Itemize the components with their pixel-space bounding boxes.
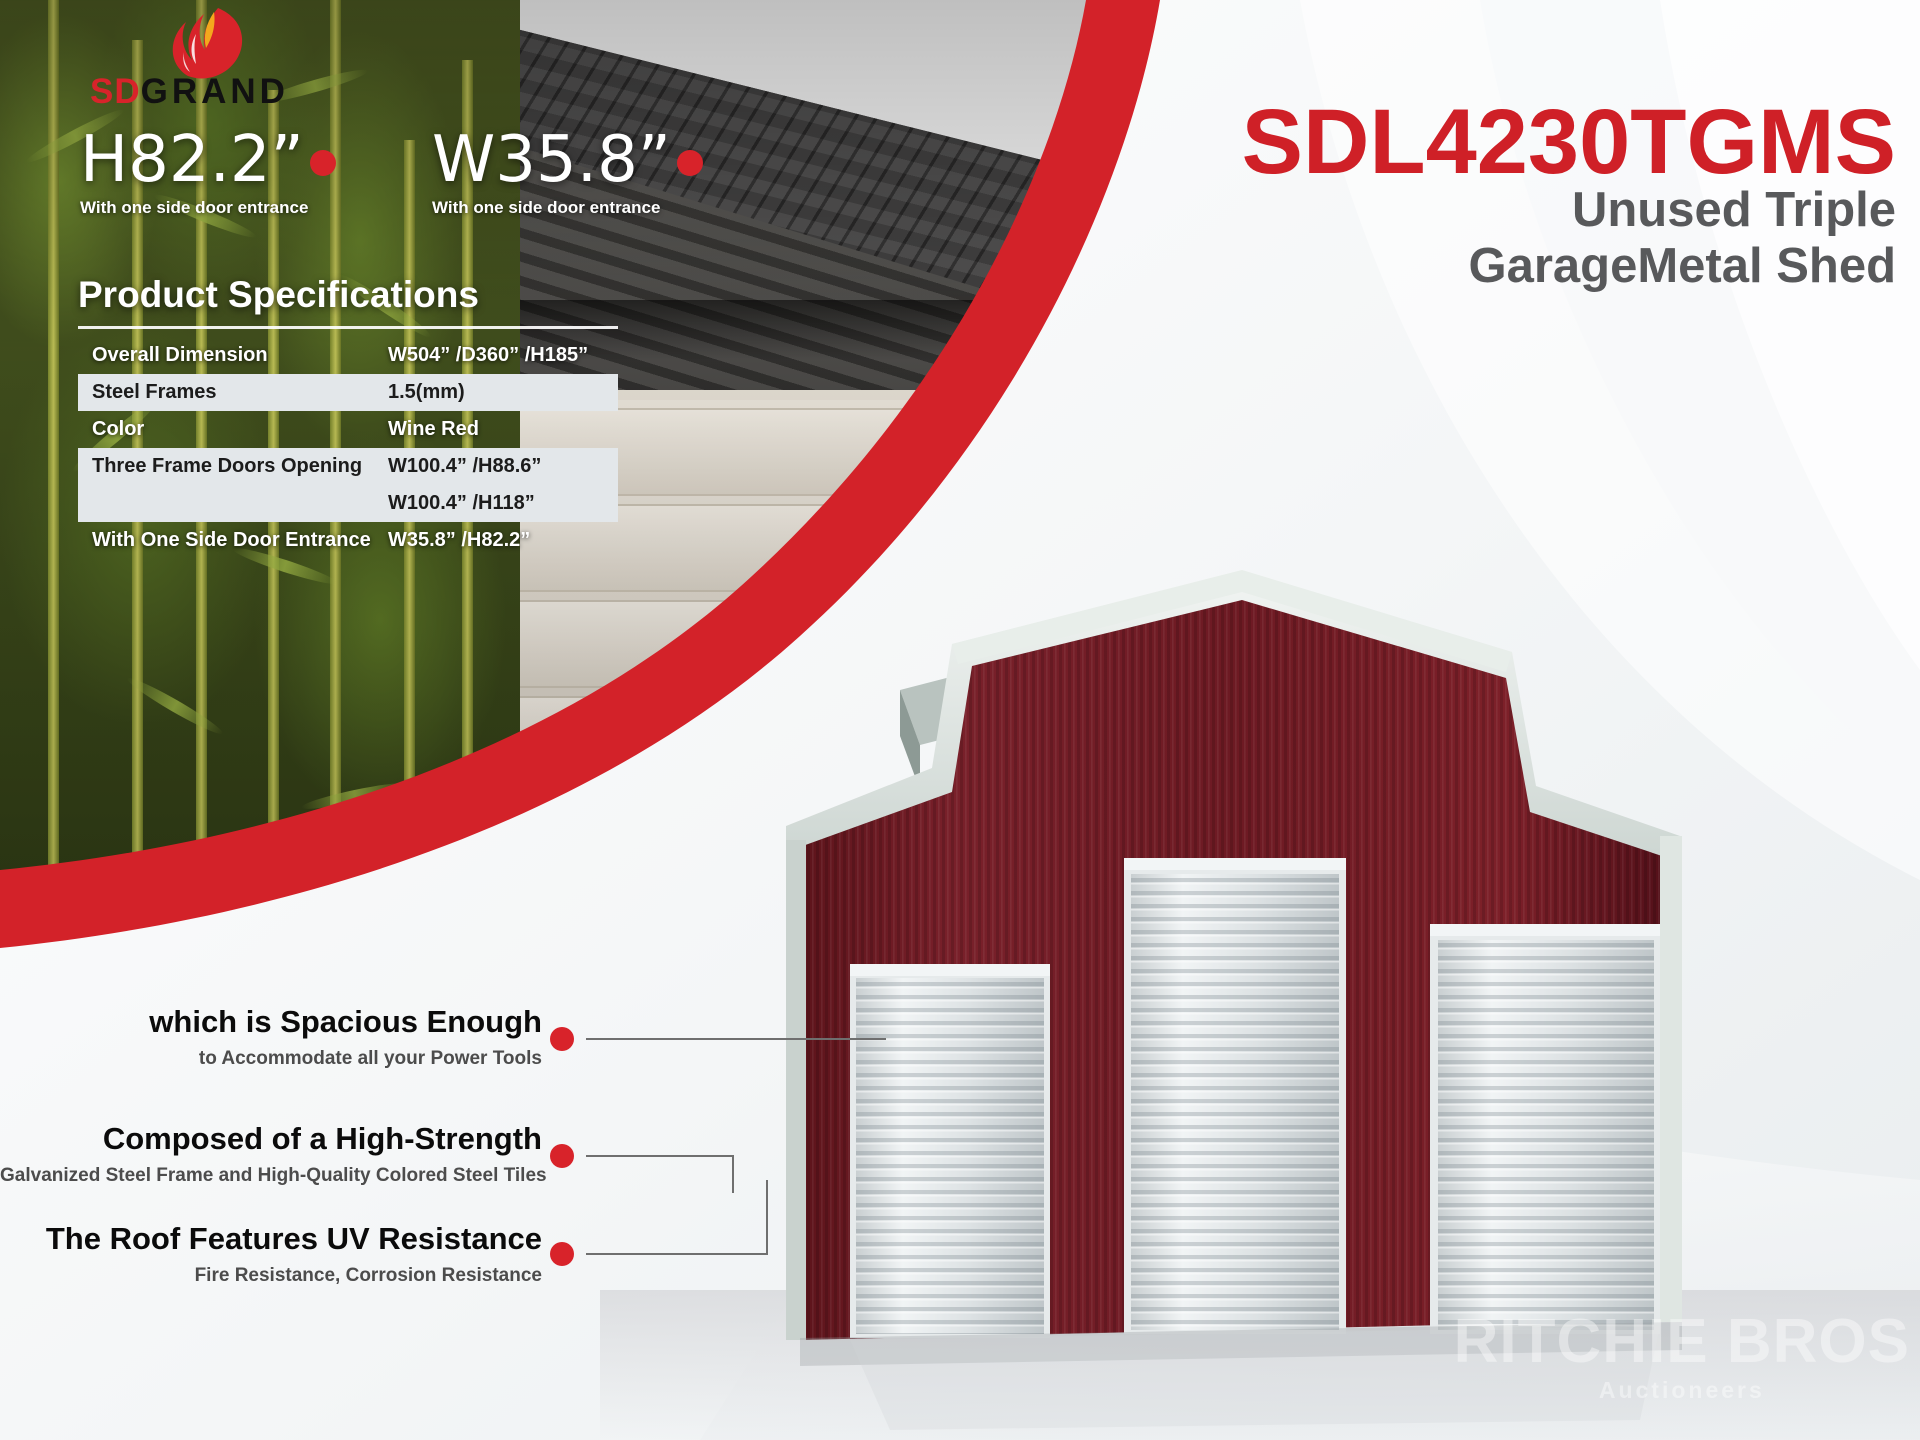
bullet-dot-icon [677,150,703,176]
dimension-width-sub: With one side door entrance [432,198,703,218]
shed-roller-door-left [850,964,1050,1338]
spec-row-side-door-entrance: With One Side Door Entrance W35.8” /H82.… [78,522,618,559]
product-model-title: SDL4230TGMS [796,96,1896,188]
logo-text-grand: GRAND [141,72,289,111]
spec-row-overall-dimension: Overall Dimension W504” /D360” /H185” [78,337,618,374]
spec-label [78,485,388,522]
feature-3-leader-line [586,1253,768,1255]
feature-1-title: which is Spacious Enough [0,1005,542,1039]
poster-canvas: SDGRAND H82.2” With one side door entran… [0,0,1920,1440]
shed-roller-door-middle [1124,858,1346,1334]
spec-section-title: Product Specifications [78,275,623,316]
feature-1-sub: to Accommodate all your Power Tools [0,1048,542,1070]
feature-3-title: The Roof Features UV Resistance [0,1222,542,1256]
feature-2-dot-icon [550,1144,574,1168]
product-subtitle: Unused Triple GarageMetal Shed [796,182,1896,295]
logo-text-sd: SD [90,72,141,111]
dimension-height-value: H82.2” [80,123,304,197]
dimension-height-sub: With one side door entrance [80,198,336,218]
dimension-width-value: W35.8” [432,123,671,197]
spec-value: W100.4” /H88.6” [388,448,618,485]
spec-row-three-frame-doors: Three Frame Doors Opening W100.4” /H88.6… [78,448,618,485]
feature-callout-1: which is Spacious Enough to Accommodate … [0,1005,542,1070]
spec-label: Color [78,411,388,448]
shed-roller-door-right [1430,924,1660,1334]
metal-shed-illustration [600,540,1920,1440]
product-subtitle-line2: GarageMetal Shed [796,238,1896,294]
spec-row-steel-frames: Steel Frames 1.5(mm) [78,374,618,411]
feature-1-dot-icon [550,1027,574,1051]
feature-1-leader-line [586,1038,886,1040]
spec-table: Overall Dimension W504” /D360” /H185” St… [78,337,618,559]
spec-value: W35.8” /H82.2” [388,522,618,559]
spec-row-color: Color Wine Red [78,411,618,448]
brand-logo: SDGRAND [80,6,350,116]
feature-2-sub: Galvanized Steel Frame and High-Quality … [0,1165,542,1187]
feature-3-leader-riser [766,1180,768,1253]
feature-2-leader-drop [732,1155,734,1193]
spec-value: W100.4” /H118” [388,485,618,522]
spec-title-divider [78,326,618,329]
flame-swoosh-icon [158,6,250,80]
feature-3-sub: Fire Resistance, Corrosion Resistance [0,1265,542,1287]
dimension-callout-height: H82.2” With one side door entrance [80,128,336,218]
dimension-callout-width: W35.8” With one side door entrance [432,128,703,218]
spec-row-three-frame-doors-second: W100.4” /H118” [78,485,618,522]
feature-callout-3: The Roof Features UV Resistance Fire Res… [0,1222,542,1287]
feature-callout-2: Composed of a High-Strength Galvanized S… [0,1122,542,1187]
spec-label: Steel Frames [78,374,388,411]
spec-value: W504” /D360” /H185” [388,337,618,374]
spec-value: Wine Red [388,411,618,448]
feature-2-leader-line [586,1155,734,1157]
feature-2-title: Composed of a High-Strength [0,1122,542,1156]
spec-label: With One Side Door Entrance [78,522,388,559]
product-specifications-section: Product Specifications Overall Dimension… [78,275,623,559]
feature-3-dot-icon [550,1242,574,1266]
spec-value: 1.5(mm) [388,374,618,411]
product-subtitle-line1: Unused Triple [796,182,1896,238]
spec-label: Three Frame Doors Opening [78,448,388,485]
bullet-dot-icon [310,150,336,176]
spec-label: Overall Dimension [78,337,388,374]
